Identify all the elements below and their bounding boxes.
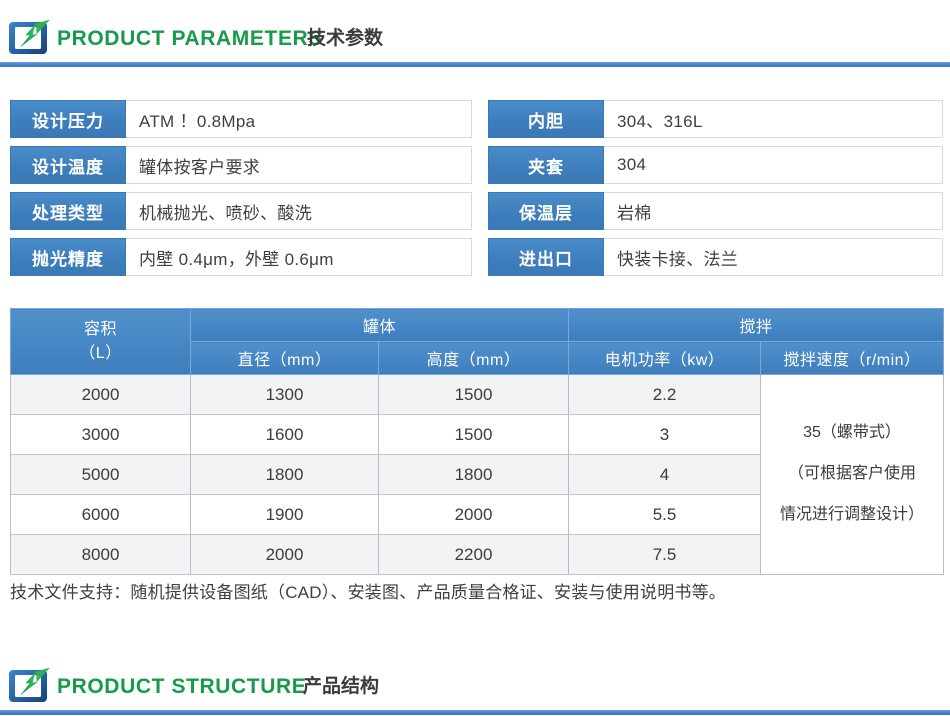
section-title-cn: 产品结构 bbox=[303, 677, 379, 696]
table-header-row-group: 容积 （L） 罐体 搅拌 bbox=[11, 309, 944, 342]
spec-row: 进出口 快装卡接、法兰 bbox=[488, 238, 943, 276]
th-stir-speed: 搅拌速度（r/min） bbox=[761, 342, 944, 375]
spec-value: 304 bbox=[604, 147, 942, 183]
table-row: 2000 1300 1500 2.2 35（螺带式） （可根据客户使用 情况进行… bbox=[11, 375, 944, 415]
stir-speed-line-2: （可根据客户使用 bbox=[767, 454, 937, 495]
section-header-structure: PRODUCT STRUCTURE 产品结构 bbox=[0, 650, 950, 716]
cell-height: 1500 bbox=[379, 415, 569, 455]
spec-value: 内壁 0.4μm，外壁 0.6μm bbox=[126, 239, 471, 275]
cell-height: 1800 bbox=[379, 455, 569, 495]
cell-diameter: 2000 bbox=[191, 535, 379, 575]
cell-volume: 6000 bbox=[11, 495, 191, 535]
th-motor-power: 电机功率（kw） bbox=[569, 342, 761, 375]
spec-value: 岩棉 bbox=[604, 193, 942, 229]
spec-value: 304、316L bbox=[604, 101, 942, 137]
section-divider bbox=[0, 710, 950, 715]
cell-volume: 2000 bbox=[11, 375, 191, 415]
section-title-cn: 技术参数 bbox=[307, 29, 383, 48]
th-stir-group: 搅拌 bbox=[569, 309, 944, 342]
spec-row: 保温层 岩棉 bbox=[488, 192, 943, 230]
cell-diameter: 1900 bbox=[191, 495, 379, 535]
cell-diameter: 1300 bbox=[191, 375, 379, 415]
table-body: 2000 1300 1500 2.2 35（螺带式） （可根据客户使用 情况进行… bbox=[11, 375, 944, 575]
th-tank-group: 罐体 bbox=[191, 309, 569, 342]
spec-label: 设计温度 bbox=[10, 146, 126, 184]
cell-diameter: 1800 bbox=[191, 455, 379, 495]
spec-value: 机械抛光、喷砂、酸洗 bbox=[126, 193, 471, 229]
spec-label: 设计压力 bbox=[10, 100, 126, 138]
spec-row: 设计压力 ATM ！0.8Mpa bbox=[10, 100, 472, 138]
th-diameter: 直径（mm） bbox=[191, 342, 379, 375]
spec-row: 设计温度 罐体按客户要求 bbox=[10, 146, 472, 184]
th-volume-line2: （L） bbox=[79, 345, 121, 362]
table-head: 容积 （L） 罐体 搅拌 直径（mm） 高度（mm） 电机功率（kw） 搅拌速度… bbox=[11, 309, 944, 375]
section-title-en: PRODUCT STRUCTURE bbox=[57, 676, 306, 697]
spec-label: 处理类型 bbox=[10, 192, 126, 230]
stir-speed-line-3: 情况进行调整设计） bbox=[767, 495, 937, 536]
cell-motor-power: 4 bbox=[569, 455, 761, 495]
th-volume: 容积 （L） bbox=[11, 309, 191, 375]
spec-value: 快装卡接、法兰 bbox=[604, 239, 942, 275]
section-header-parameters: PRODUCT PARAMETERS 技术参数 bbox=[0, 0, 950, 66]
spec-label: 内胆 bbox=[488, 100, 604, 138]
spec-label: 进出口 bbox=[488, 238, 604, 276]
spec-row: 抛光精度 内壁 0.4μm，外壁 0.6μm bbox=[10, 238, 472, 276]
spec-list-left: 设计压力 ATM ！0.8Mpa 设计温度 罐体按客户要求 处理类型 机械抛光、… bbox=[10, 100, 472, 284]
spec-value: 罐体按客户要求 bbox=[126, 147, 471, 183]
cell-volume: 3000 bbox=[11, 415, 191, 455]
section-divider bbox=[0, 62, 950, 67]
th-volume-line1: 容积 bbox=[84, 321, 117, 338]
cell-volume: 8000 bbox=[11, 535, 191, 575]
spec-label: 夹套 bbox=[488, 146, 604, 184]
section-title-en: PRODUCT PARAMETERS bbox=[57, 28, 323, 49]
cell-motor-power: 7.5 bbox=[569, 535, 761, 575]
cell-volume: 5000 bbox=[11, 455, 191, 495]
brand-square-bolt-icon bbox=[9, 16, 51, 54]
spec-row: 内胆 304、316L bbox=[488, 100, 943, 138]
cell-motor-power: 5.5 bbox=[569, 495, 761, 535]
spec-value: ATM ！0.8Mpa bbox=[126, 101, 471, 137]
cell-height: 1500 bbox=[379, 375, 569, 415]
cell-stir-speed-merged: 35（螺带式） （可根据客户使用 情况进行调整设计） bbox=[761, 375, 944, 575]
tech-support-note: 技术文件支持：随机提供设备图纸（CAD）、安装图、产品质量合格证、安装与使用说明… bbox=[10, 578, 726, 603]
specification-table: 容积 （L） 罐体 搅拌 直径（mm） 高度（mm） 电机功率（kw） 搅拌速度… bbox=[10, 308, 944, 575]
spec-list-right: 内胆 304、316L 夹套 304 保温层 岩棉 进出口 快装卡接、法兰 bbox=[488, 100, 943, 284]
cell-motor-power: 2.2 bbox=[569, 375, 761, 415]
spec-row: 处理类型 机械抛光、喷砂、酸洗 bbox=[10, 192, 472, 230]
spec-label: 抛光精度 bbox=[10, 238, 126, 276]
spec-row: 夹套 304 bbox=[488, 146, 943, 184]
brand-square-bolt-icon bbox=[9, 664, 51, 702]
th-height: 高度（mm） bbox=[379, 342, 569, 375]
cell-diameter: 1600 bbox=[191, 415, 379, 455]
spec-label: 保温层 bbox=[488, 192, 604, 230]
cell-motor-power: 3 bbox=[569, 415, 761, 455]
cell-height: 2000 bbox=[379, 495, 569, 535]
stir-speed-line-1: 35（螺带式） bbox=[767, 413, 937, 454]
cell-height: 2200 bbox=[379, 535, 569, 575]
